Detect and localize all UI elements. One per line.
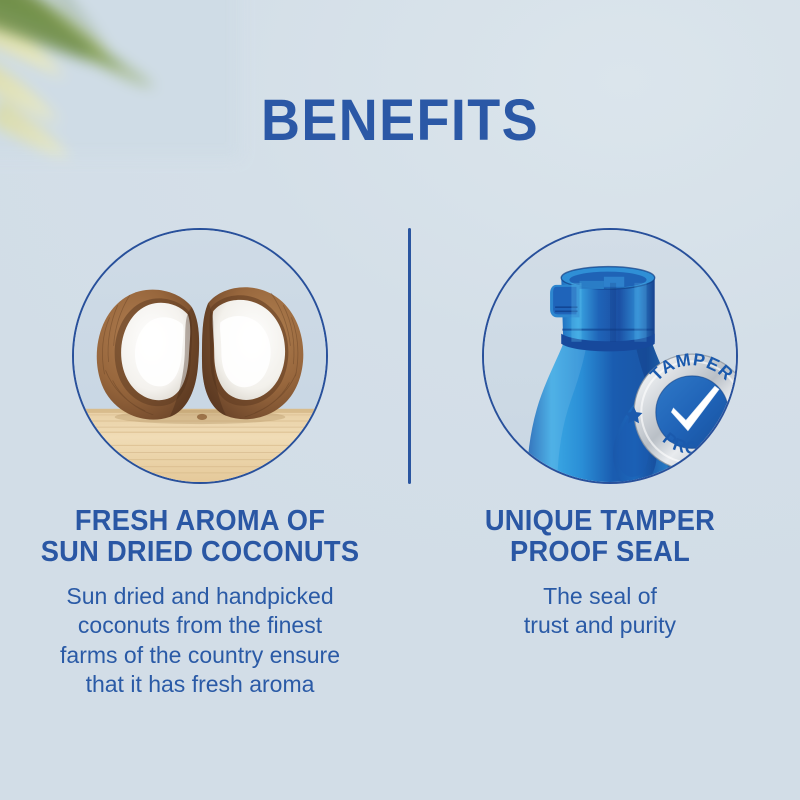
benefit-title-line2: SUN DRIED COCONUTS xyxy=(12,537,388,568)
benefit-title-tamper: UNIQUE TAMPER PROOF SEAL xyxy=(412,506,788,569)
benefit-title-line1: FRESH AROMA OF xyxy=(12,506,388,537)
benefits-columns: FRESH AROMA OF SUN DRIED COCONUTS Sun dr… xyxy=(0,0,800,800)
benefit-title-line1: UNIQUE TAMPER xyxy=(446,506,754,537)
benefit-item-tamper-seal: TAMPER PROOF UNIQUE TAMPER PR xyxy=(400,228,800,641)
benefit-body-line2: trust and purity xyxy=(470,611,730,640)
benefit-item-coconut: FRESH AROMA OF SUN DRIED COCONUTS Sun dr… xyxy=(0,228,400,699)
benefit-body-tamper: The seal of trust and purity xyxy=(400,582,800,641)
coconut-image-circle xyxy=(72,228,328,484)
coconut-photo xyxy=(72,228,328,484)
benefit-body-coconut: Sun dried and handpicked coconuts from t… xyxy=(0,582,400,700)
bottle-photo: TAMPER PROOF xyxy=(482,228,738,484)
benefit-body-line3: farms of the country ensure xyxy=(26,641,374,670)
bottle-image-circle: TAMPER PROOF xyxy=(482,228,738,484)
benefit-body-line1: Sun dried and handpicked xyxy=(26,582,374,611)
benefit-body-line4: that it has fresh aroma xyxy=(26,670,374,699)
benefit-body-line1: The seal of xyxy=(470,582,730,611)
benefit-title-line2: PROOF SEAL xyxy=(446,537,754,568)
benefit-title-coconut: FRESH AROMA OF SUN DRIED COCONUTS xyxy=(12,506,388,569)
benefits-poster: BENEFITS xyxy=(0,0,800,800)
benefit-body-line2: coconuts from the finest xyxy=(26,611,374,640)
